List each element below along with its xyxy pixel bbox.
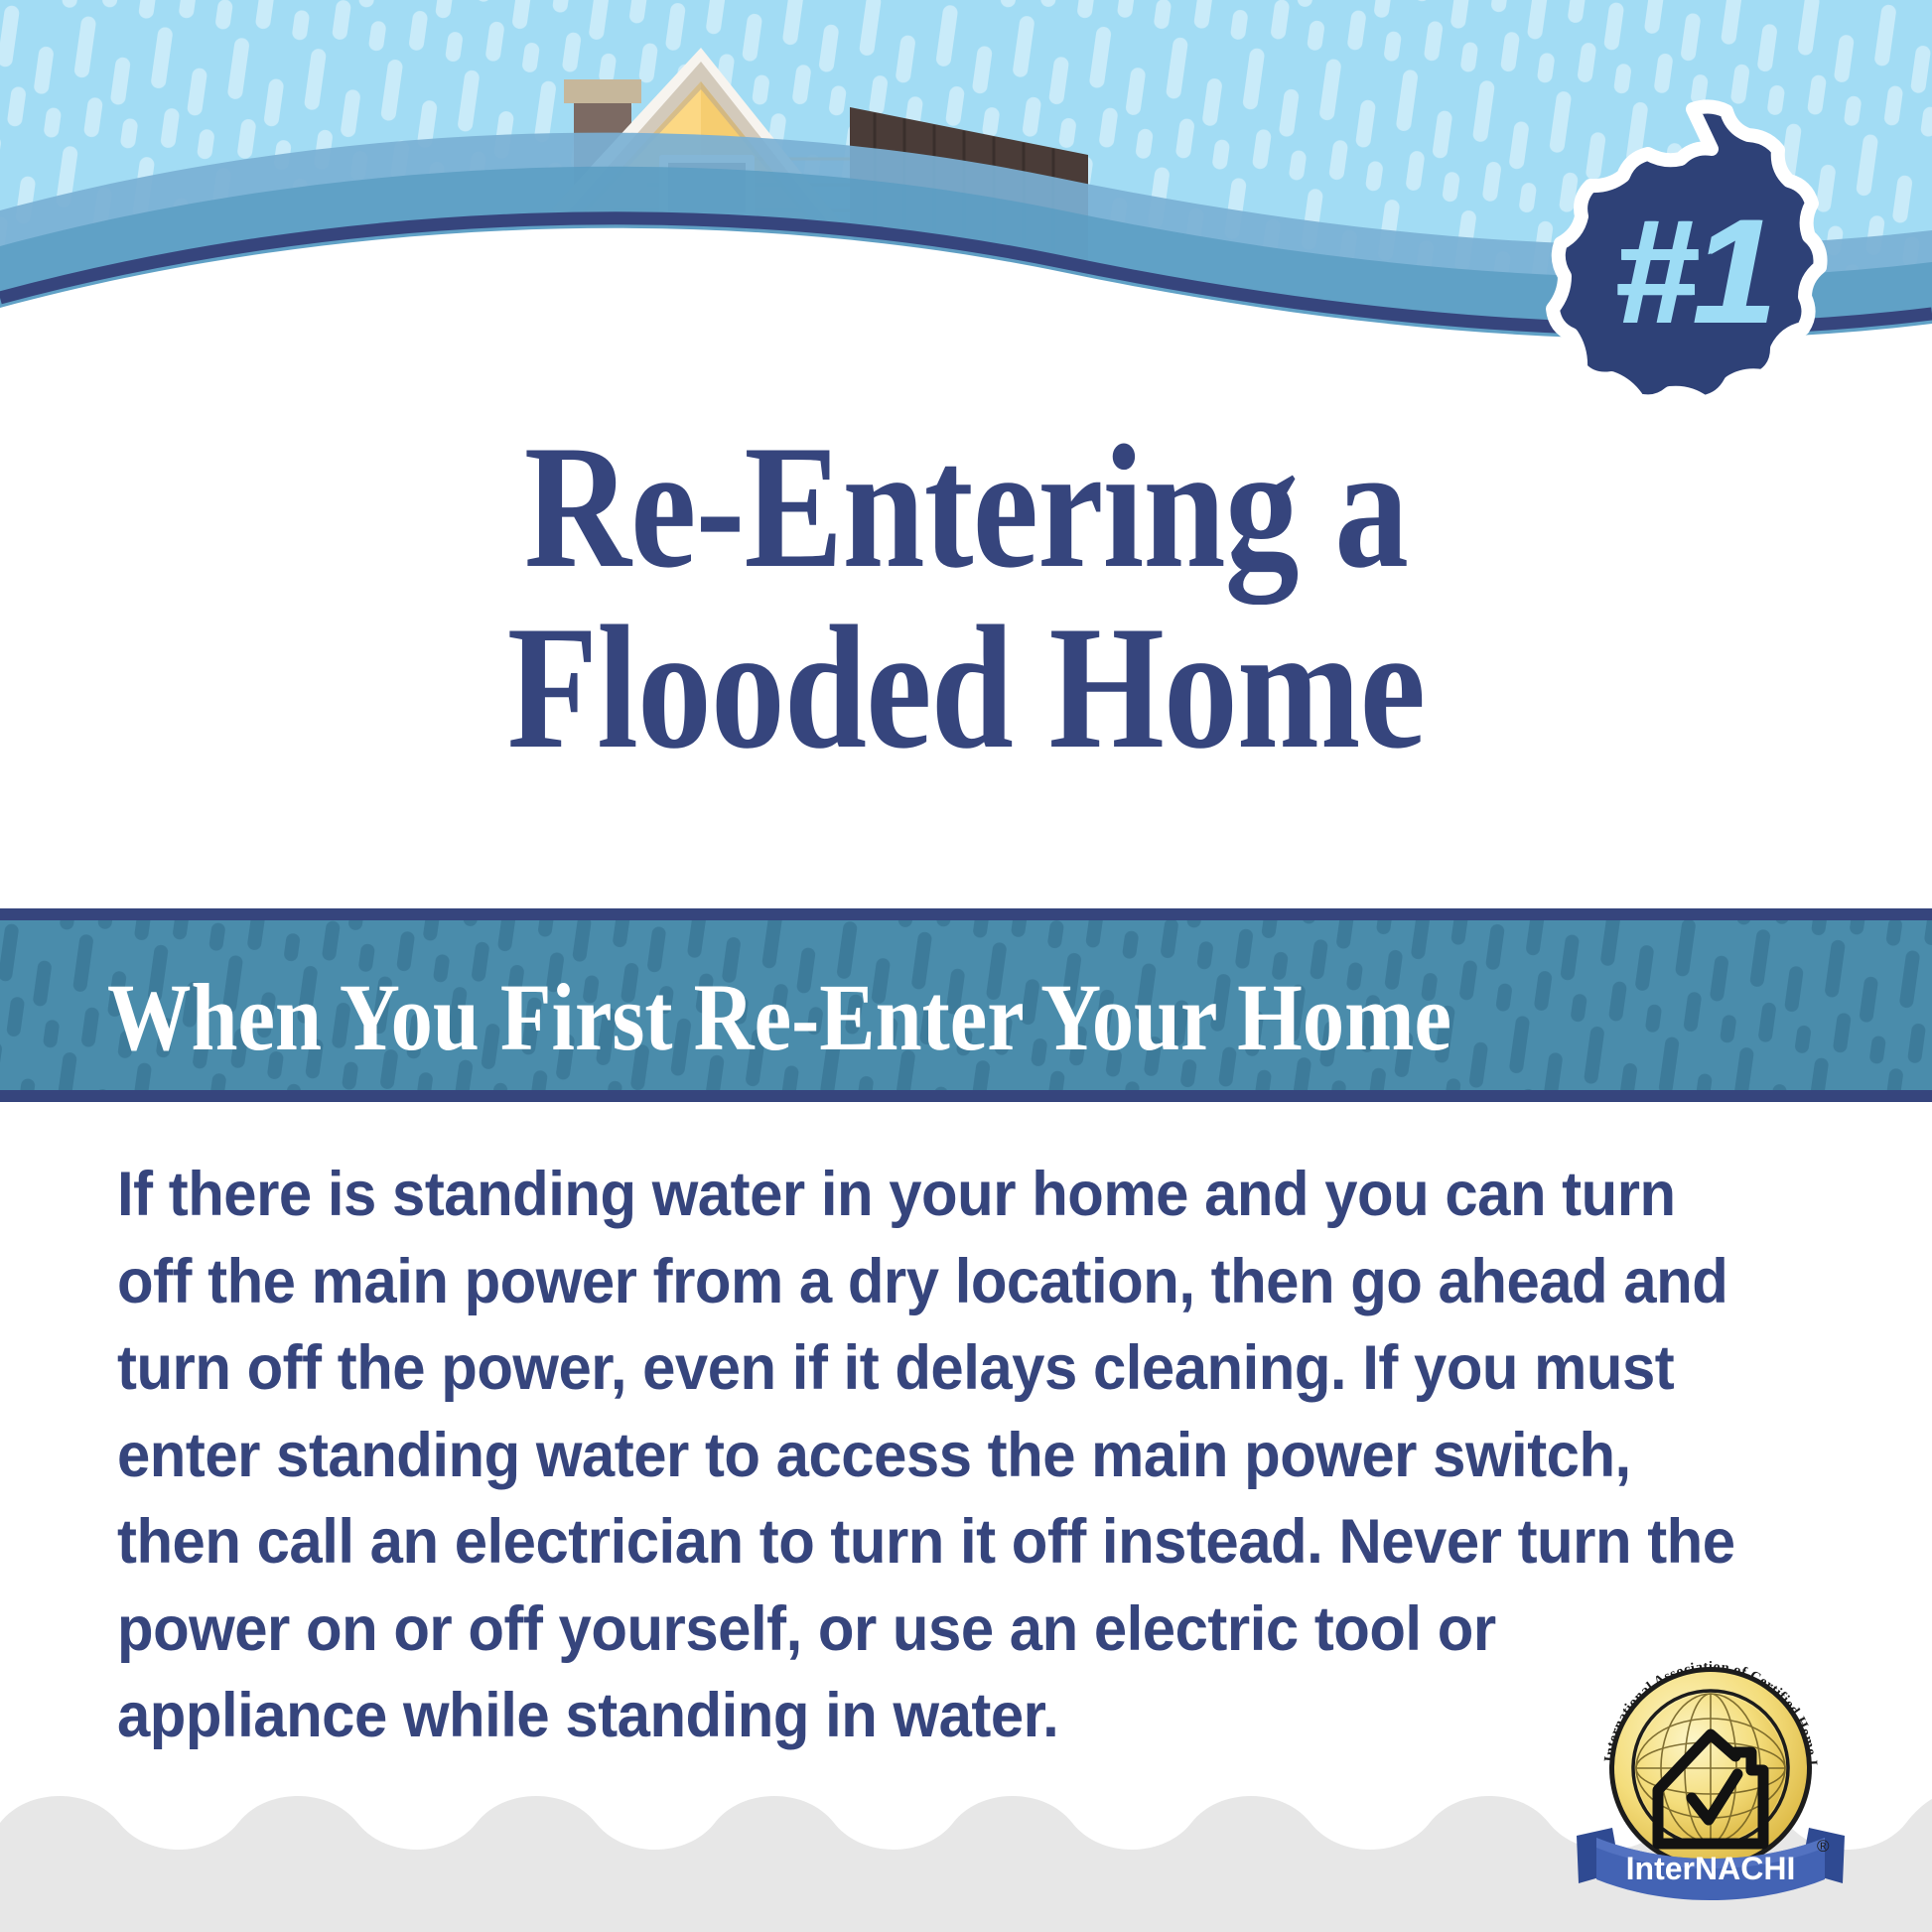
section-heading-text-wrap: When You First Re-Enter Your Home <box>0 920 1932 1102</box>
internachi-logo-svg: International Association of Certified H… <box>1567 1641 1855 1919</box>
section-heading-band: When You First Re-Enter Your Home <box>0 908 1932 1102</box>
page-title: Re-Entering a Flooded Home <box>0 417 1932 777</box>
ribbon-text: InterNACHI <box>1626 1851 1796 1886</box>
page-title-line-2: Flooded Home <box>155 598 1778 778</box>
section-heading-text: When You First Re-Enter Your Home <box>107 962 1451 1072</box>
badge-label: #1 <box>1514 97 1871 397</box>
page-title-line-1: Re-Entering a <box>155 417 1778 598</box>
rank-badge[interactable]: #1 <box>1514 97 1871 397</box>
body-paragraph: If there is standing water in your home … <box>117 1152 1758 1760</box>
header-illustration: #1 <box>0 0 1932 397</box>
internachi-logo[interactable]: International Association of Certified H… <box>1567 1641 1855 1919</box>
registered-mark-icon: ® <box>1817 1837 1830 1856</box>
infographic-poster: #1 Re-Entering a Flooded Home When You F… <box>0 0 1932 1932</box>
